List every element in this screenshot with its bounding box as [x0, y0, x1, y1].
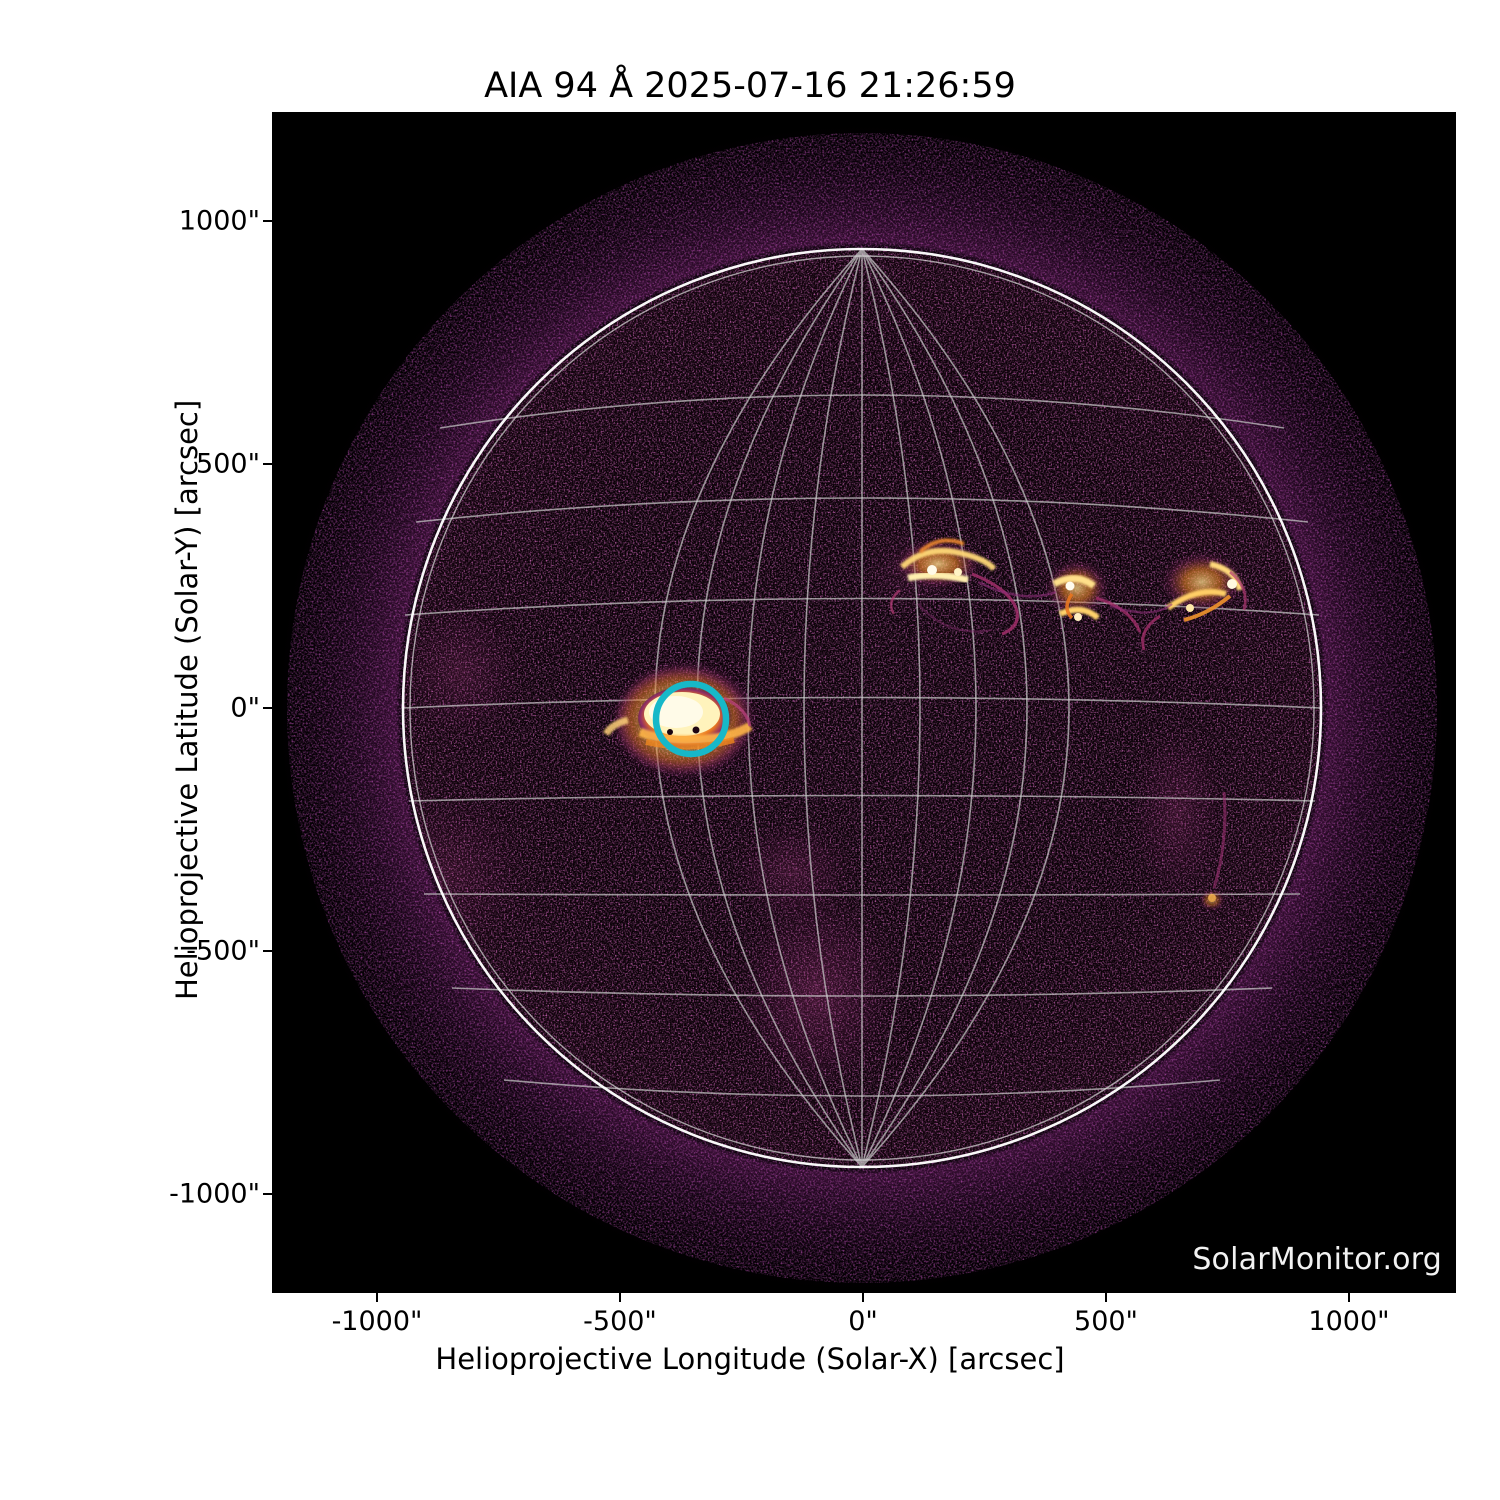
y-axis-label: Helioprojective Latitude (Solar-Y) [arcs…	[170, 400, 204, 1000]
y-tick-mark	[263, 220, 272, 222]
x-tick-label: 1000"	[1308, 1306, 1389, 1337]
x-tick-label: 500"	[1074, 1306, 1138, 1337]
x-tick-label: -1000"	[332, 1306, 423, 1337]
x-tick-mark	[1105, 1293, 1107, 1302]
y-tick-label: -1000"	[169, 1179, 260, 1210]
y-tick-label: 0"	[230, 693, 260, 724]
x-tick-mark	[619, 1293, 621, 1302]
solar-image-figure: AIA 94 Å 2025-07-16 21:26:59	[0, 0, 1500, 1500]
solar-image-plot-area[interactable]: SolarMonitor.org	[272, 112, 1456, 1293]
y-tick-mark	[263, 1193, 272, 1195]
x-tick-mark	[1348, 1293, 1350, 1302]
y-tick-mark	[263, 950, 272, 952]
x-axis-label: Helioprojective Longitude (Solar-X) [arc…	[0, 1342, 1500, 1376]
x-tick-mark	[376, 1293, 378, 1302]
solar-disk-render	[272, 112, 1456, 1293]
y-tick-mark	[263, 707, 272, 709]
x-tick-mark	[862, 1293, 864, 1302]
x-tick-label: -500"	[583, 1306, 657, 1337]
watermark-label: SolarMonitor.org	[1192, 1242, 1442, 1277]
x-tick-label: 0"	[848, 1306, 878, 1337]
page-title: AIA 94 Å 2025-07-16 21:26:59	[0, 66, 1500, 106]
y-tick-label: 500"	[196, 449, 260, 480]
y-tick-label: 1000"	[179, 206, 260, 237]
y-tick-mark	[263, 463, 272, 465]
